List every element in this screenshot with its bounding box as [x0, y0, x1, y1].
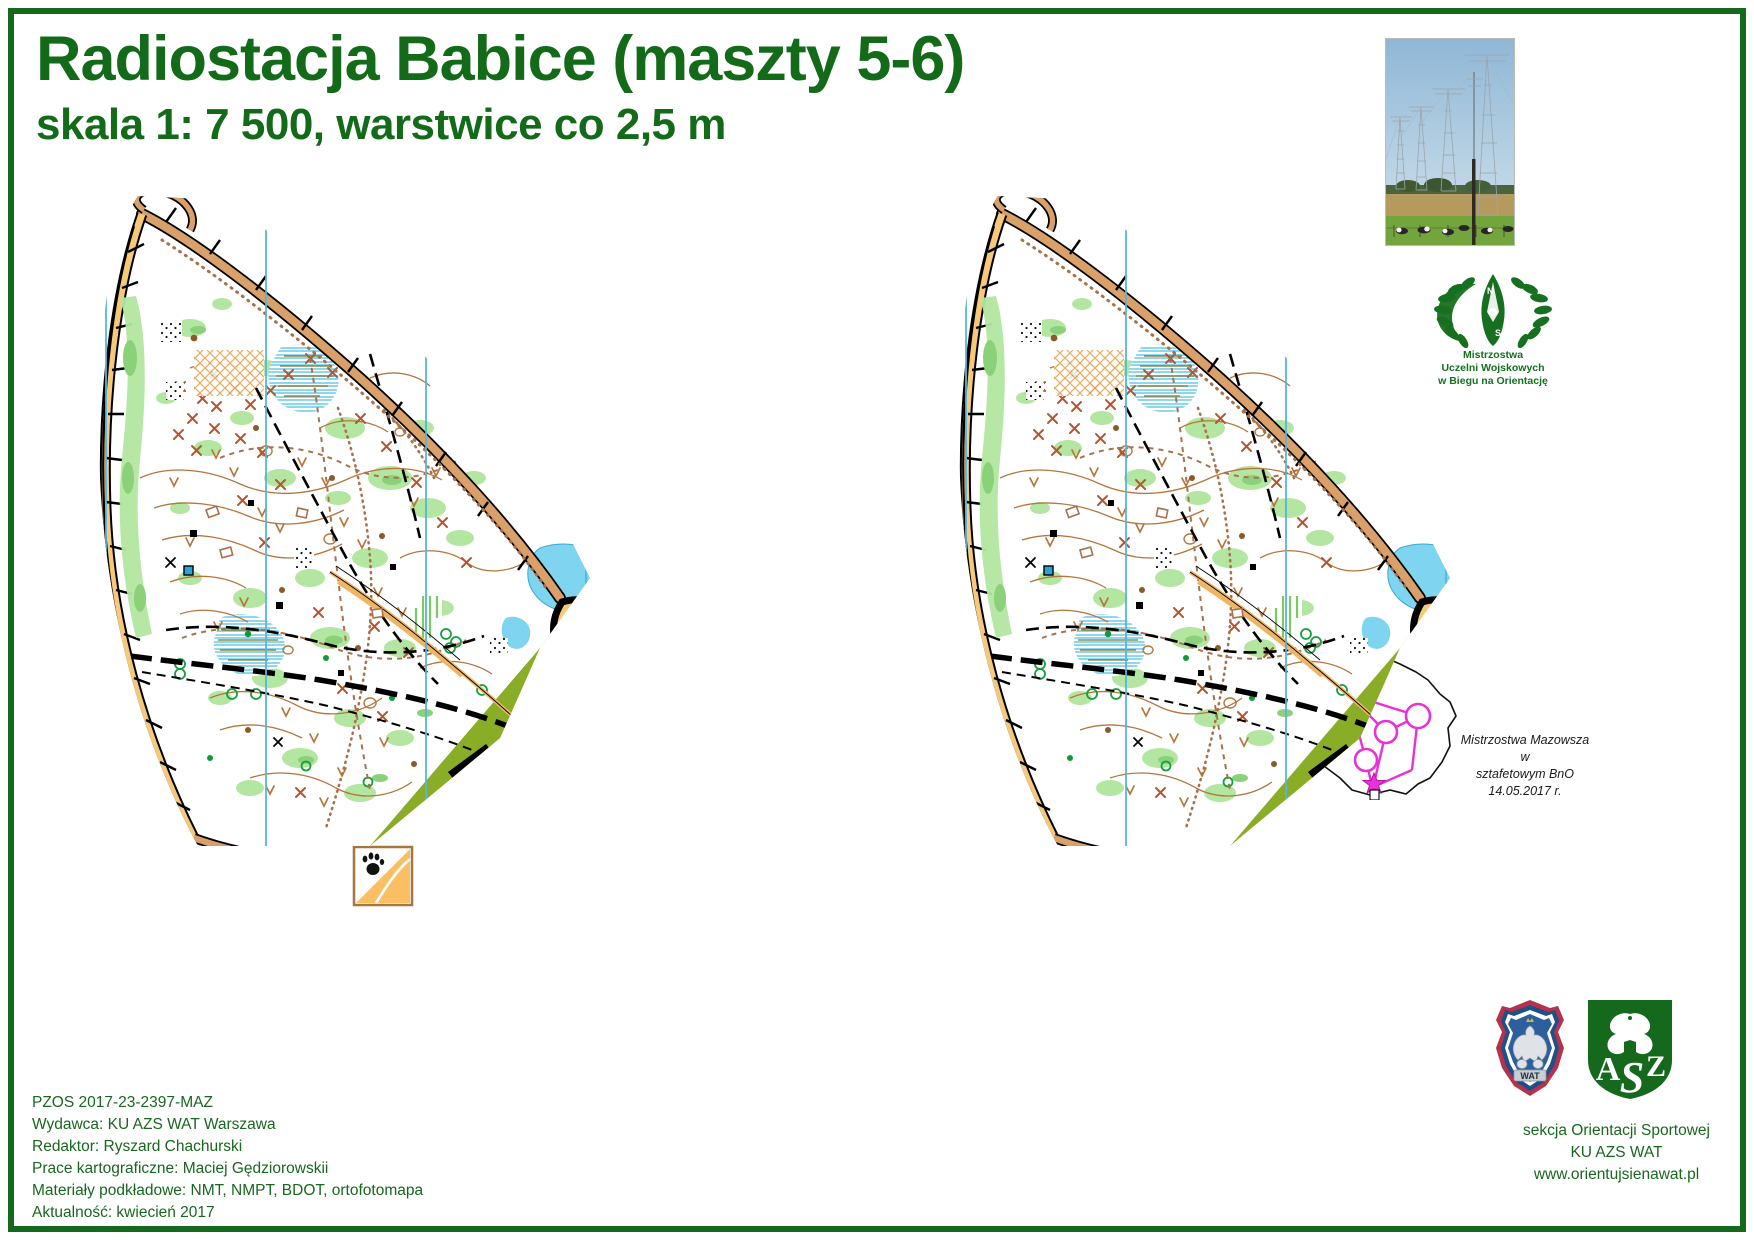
page-subtitle: skala 1: 7 500, warstwice co 2,5 m — [36, 101, 1336, 149]
title-block: Radiostacja Babice (maszty 5-6) skala 1:… — [36, 26, 1336, 149]
credit-right-club: KU AZS WAT — [1523, 1142, 1710, 1164]
svg-text:A: A — [1596, 1051, 1621, 1088]
credit-right-section: sekcja Orientacji Sportowej — [1523, 1120, 1710, 1142]
svg-text:Z: Z — [1646, 1050, 1666, 1083]
map-copy-left[interactable] — [70, 178, 710, 908]
credit-right-website[interactable]: www.orientujsienawat.pl — [1523, 1164, 1710, 1186]
credits-left: PZOS 2017-23-2397-MAZ Wydawca: KU AZS WA… — [32, 1092, 423, 1224]
map-copy-right[interactable] — [930, 178, 1570, 908]
wat-logo: WAT — [1492, 998, 1568, 1098]
page-title: Radiostacja Babice (maszty 5-6) — [36, 26, 1336, 93]
credit-line-pzos: PZOS 2017-23-2397-MAZ — [32, 1092, 423, 1114]
sponsor-logos: WAT A Z S — [1492, 988, 1742, 1108]
credit-line-currency: Aktualność: kwiecień 2017 — [32, 1202, 423, 1224]
map-page: Radiostacja Babice (maszty 5-6) skala 1:… — [0, 0, 1754, 1240]
credit-line-publisher: Wydawca: KU AZS WAT Warszawa — [32, 1114, 423, 1136]
svg-text:S: S — [1620, 1053, 1644, 1100]
wat-logo-label: WAT — [1520, 1071, 1540, 1081]
credits-right: sekcja Orientacji Sportowej KU AZS WAT w… — [1523, 1120, 1710, 1186]
azs-logo: A Z S — [1584, 996, 1676, 1100]
credit-line-sources: Materiały podkładowe: NMT, NMPT, BDOT, o… — [32, 1180, 423, 1202]
credit-line-editor: Redaktor: Ryszard Chachurski — [32, 1136, 423, 1158]
credit-line-cartography: Prace kartograficzne: Maciej Gędziorowsk… — [32, 1158, 423, 1180]
